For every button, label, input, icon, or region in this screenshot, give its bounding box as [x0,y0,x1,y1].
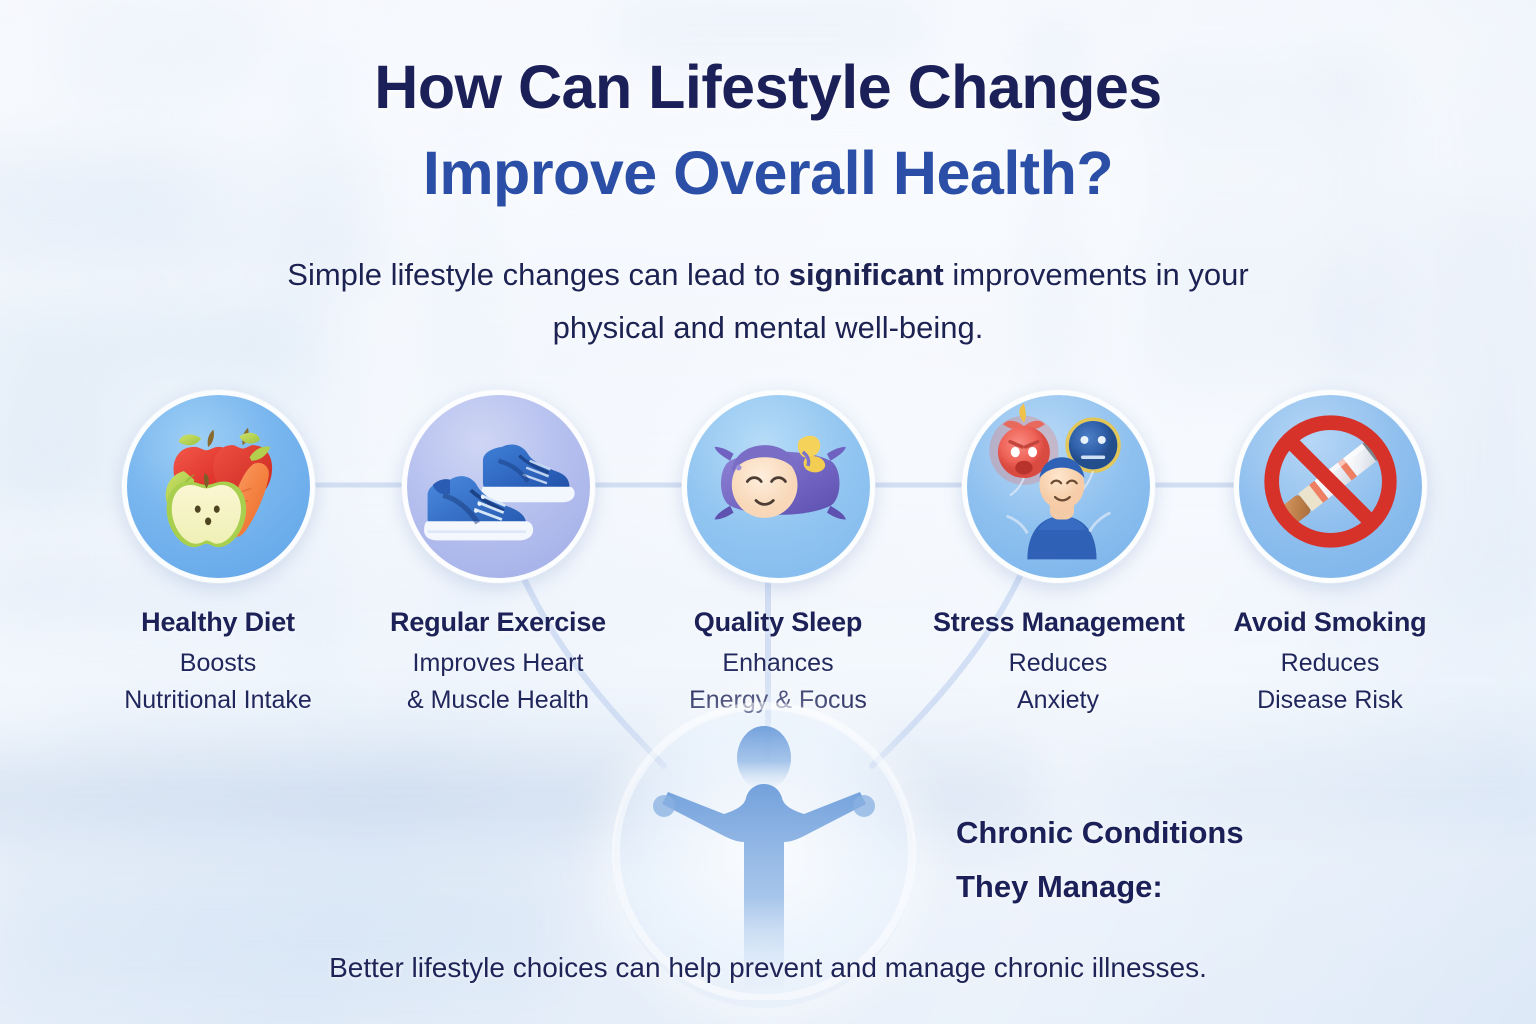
card-desc-line-1: Improves Heart [413,649,584,677]
running-shoes-icon [402,390,595,583]
card-desc-line-2: Nutritional Intake [124,686,312,714]
card-stress-management[interactable]: Stress Management Reduces Anxiety [933,390,1183,719]
card-title: Stress Management [933,605,1183,639]
card-title: Quality Sleep [653,605,903,639]
card-desc-line-2: & Muscle Health [407,686,589,714]
footer-note: Better lifestyle choices can help preven… [0,948,1536,988]
card-desc: Reduces Anxiety [933,645,1183,719]
card-avoid-smoking[interactable]: Avoid Smoking Reduces Disease Risk [1205,390,1455,719]
card-desc-line-1: Enhances [722,649,833,677]
sleeping-face-pillow-icon [682,390,875,583]
chronic-line-1: Chronic Conditions [956,806,1376,860]
card-desc-line-2: Disease Risk [1257,686,1403,714]
card-regular-exercise[interactable]: Regular Exercise Improves Heart & Muscle… [373,390,623,719]
card-healthy-diet[interactable]: Healthy Diet Boosts Nutritional Intake [93,390,343,719]
fruits-vegetables-icon [122,390,315,583]
card-title: Avoid Smoking [1205,605,1455,639]
card-title: Regular Exercise [373,605,623,639]
infographic-canvas: How Can Lifestyle Changes Improve Overal… [0,0,1536,1024]
card-desc-line-1: Reduces [1281,649,1380,677]
card-desc-line-1: Boosts [180,649,256,677]
card-quality-sleep[interactable]: Quality Sleep Enhances Energy & Focus [653,390,903,719]
card-desc: Improves Heart & Muscle Health [373,645,623,719]
chronic-line-2: They Manage: [956,860,1376,914]
card-desc-line-2: Anxiety [1017,686,1099,714]
card-desc: Reduces Disease Risk [1205,645,1455,719]
no-smoking-icon [1234,390,1427,583]
calm-person-emotion-balloons-icon [962,390,1155,583]
card-desc-line-1: Reduces [1009,649,1108,677]
card-title: Healthy Diet [93,605,343,639]
chronic-conditions-heading: Chronic Conditions They Manage: [956,806,1376,914]
card-desc: Boosts Nutritional Intake [93,645,343,719]
